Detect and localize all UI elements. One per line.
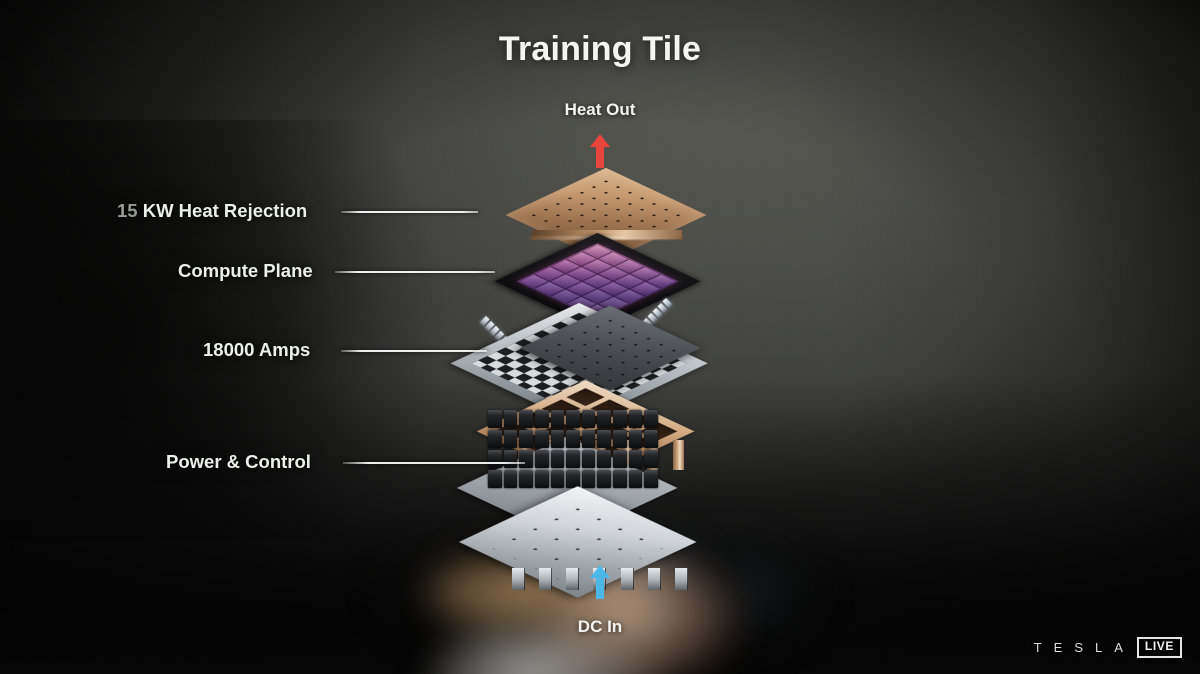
live-badge: LIVE	[1137, 637, 1182, 658]
tesla-letter-l: L	[1095, 640, 1103, 655]
layer-compute-plane	[492, 238, 720, 318]
tesla-letter-a: A	[1114, 640, 1124, 655]
leader-line-heat-rejection	[341, 211, 478, 213]
leader-line-power-control	[343, 462, 525, 464]
tesla-letter-e: E	[1054, 640, 1064, 655]
callout-power-control: Power & Control	[166, 450, 311, 474]
slide-canvas: Training Tile Heat Out	[0, 0, 1200, 674]
callout-heat-rejection: 15 KW Heat Rejection	[117, 199, 307, 223]
leader-line-amps	[341, 350, 487, 352]
callout-amps: 18000 Amps	[203, 338, 310, 362]
callout-heat-rejection-value: 15	[117, 200, 138, 221]
callout-compute-plane: Compute Plane	[178, 259, 313, 283]
exploded-tile-diagram	[470, 160, 740, 580]
callout-power-control-label: Power & Control	[166, 451, 311, 473]
capacitor-bank	[488, 410, 658, 488]
dc-in-label: DC In	[0, 617, 1200, 637]
slide-title: Training Tile	[0, 30, 1200, 69]
callout-heat-rejection-label: KW Heat Rejection	[138, 200, 308, 221]
brand-bug: T E S L A LIVE	[1034, 637, 1182, 658]
tesla-letter-t: T	[1034, 640, 1043, 655]
leader-line-compute-plane	[335, 271, 495, 273]
tesla-letter-s: S	[1074, 640, 1084, 655]
callout-compute-plane-label: Compute Plane	[178, 260, 313, 282]
callout-amps-label: 18000 Amps	[203, 339, 310, 361]
tesla-wordmark: T E S L A	[1034, 640, 1124, 655]
arrow-up-icon-dc-in	[589, 565, 611, 599]
heat-out-label: Heat Out	[0, 100, 1200, 120]
